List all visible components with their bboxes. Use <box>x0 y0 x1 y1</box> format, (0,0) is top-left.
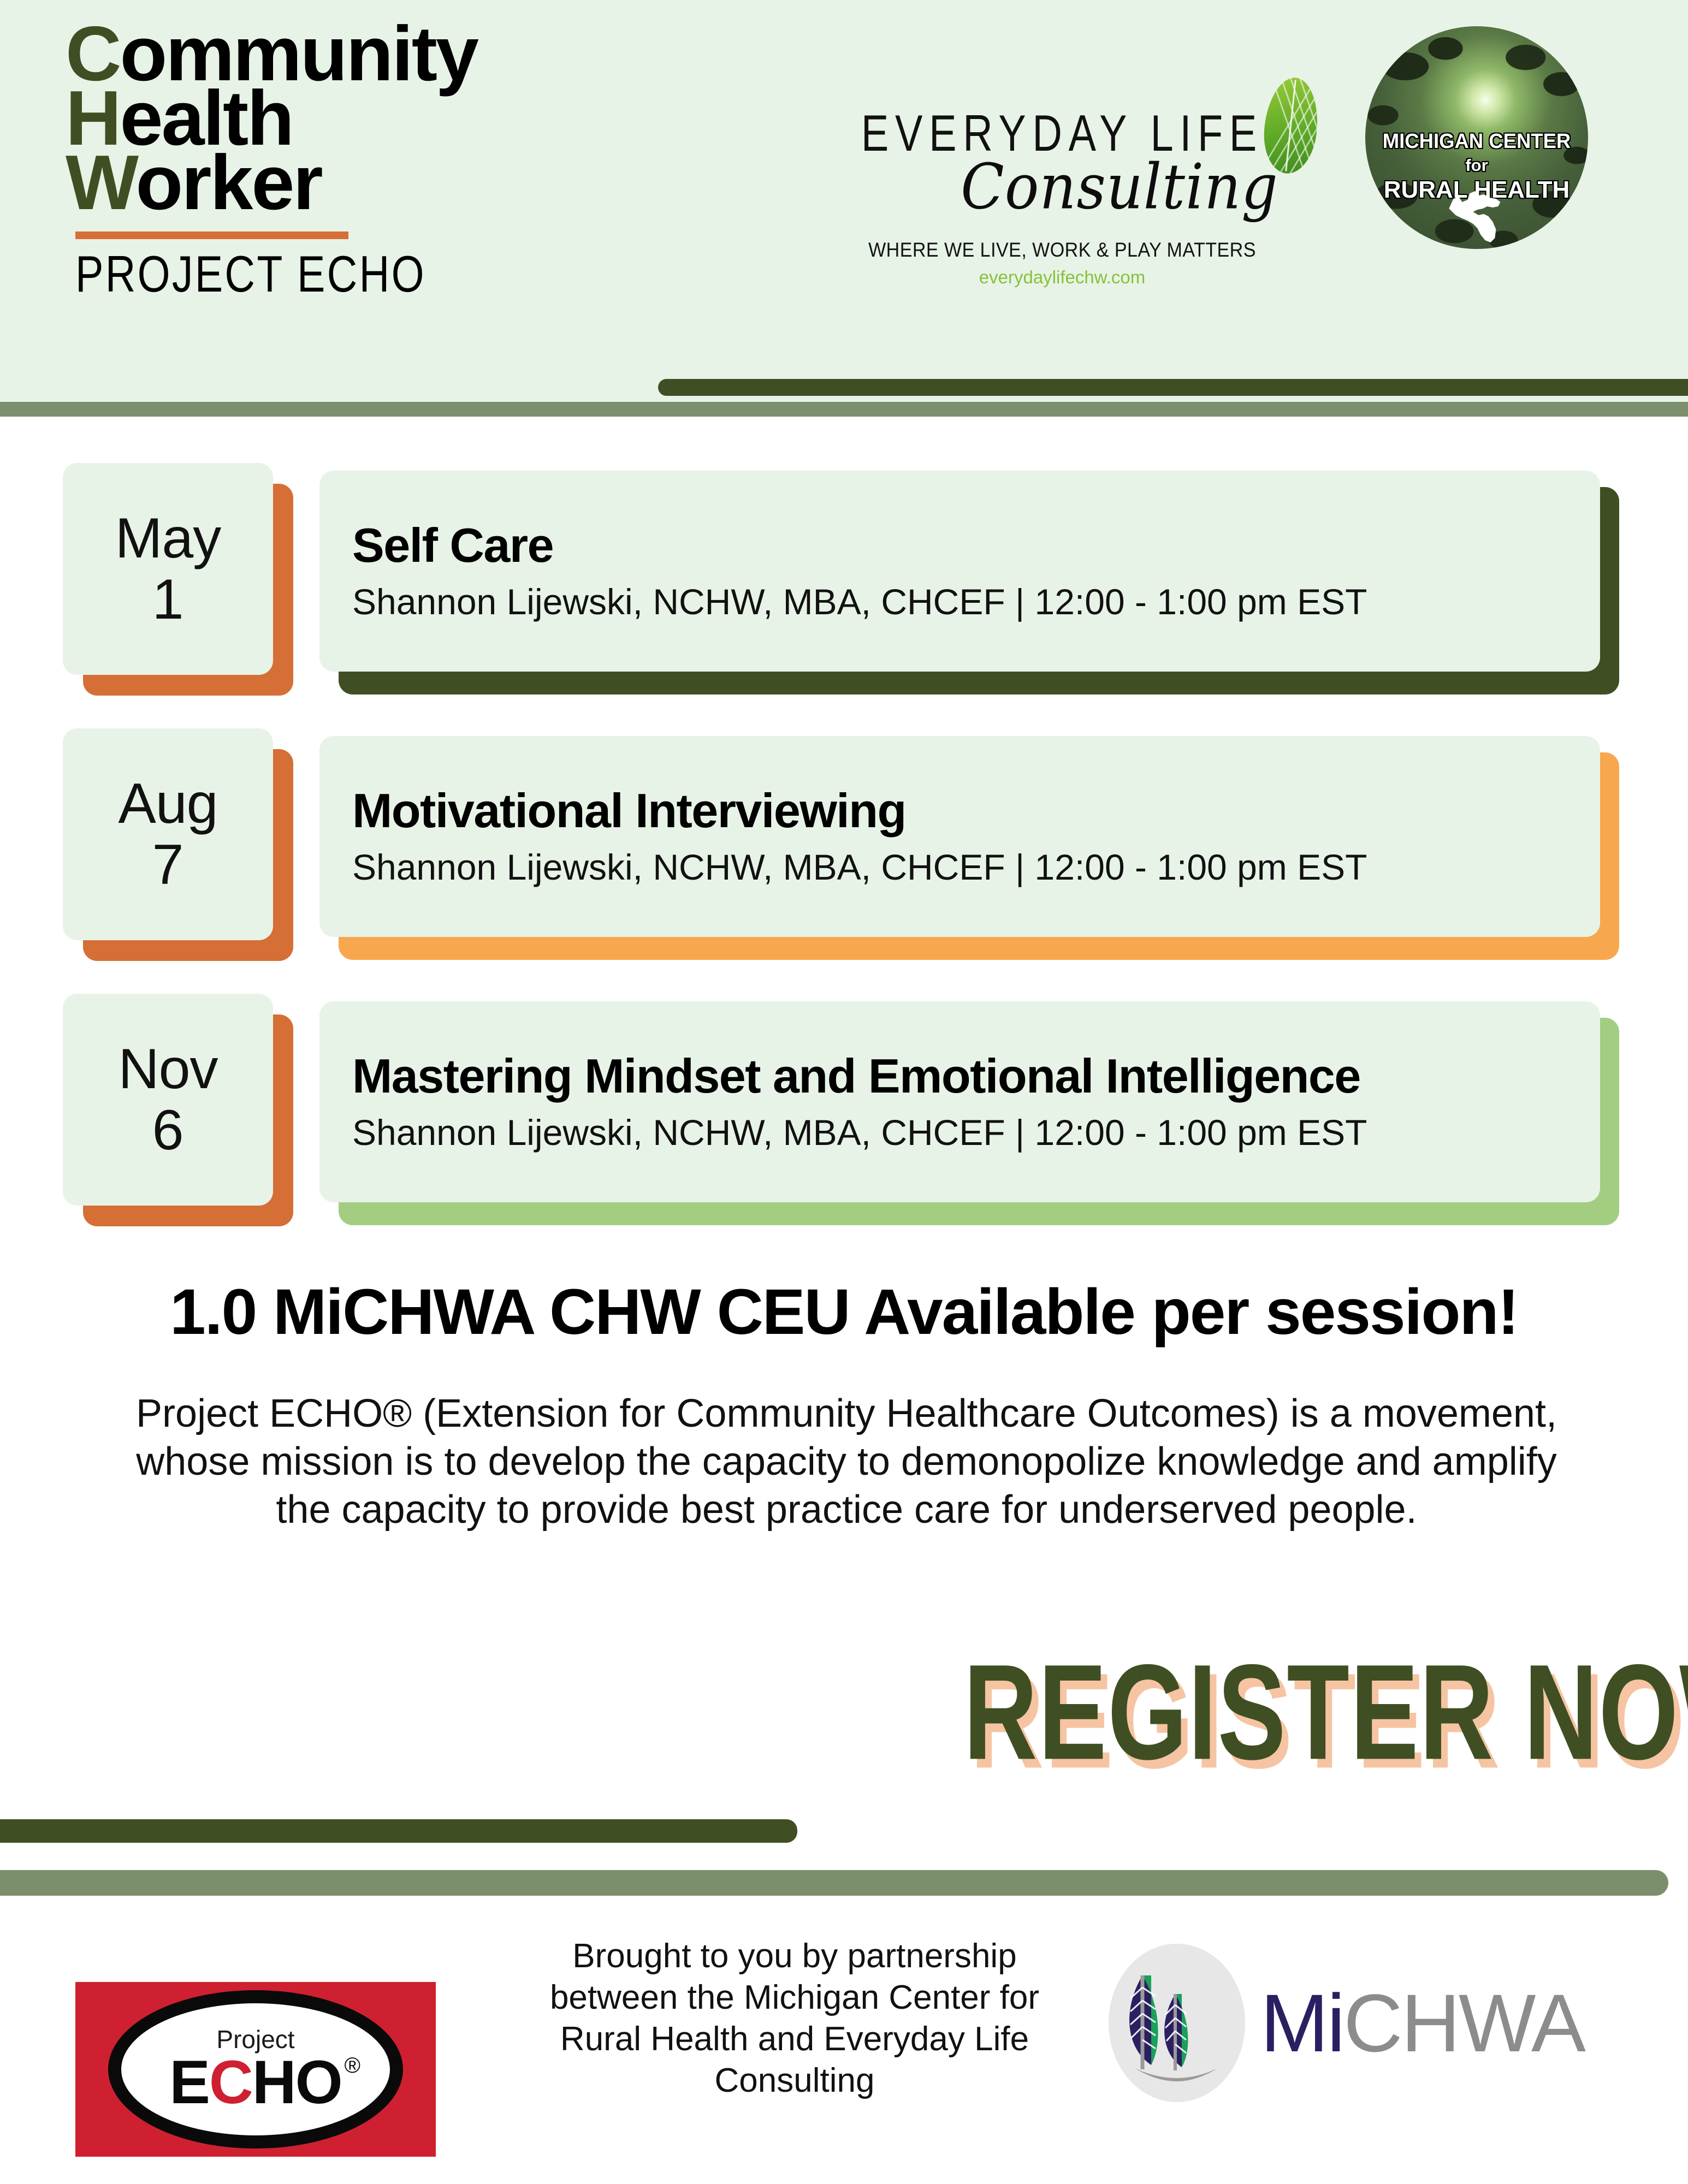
elc-tagline: WHERE WE LIVE, WORK & PLAY MATTERS <box>808 239 1316 262</box>
title-subtitle: PROJECT ECHO <box>75 247 560 301</box>
session-meta: Shannon Lijewski, NCHW, MBA, CHCEF | 12:… <box>352 580 1600 623</box>
session-row[interactable]: Aug 7 Motivational Interviewing Shannon … <box>0 728 1688 963</box>
michwa-leaf-mark-icon <box>1109 1944 1245 2102</box>
date-chip: May 1 <box>63 463 273 675</box>
elc-script-word: Consulting <box>901 150 1338 223</box>
partnership-text: Brought to you by partnership between th… <box>513 1936 1076 2102</box>
header-rule-dark <box>658 379 1688 396</box>
everyday-life-consulting-logo: EVERYDAY LIFE Consulting WHERE WE LIVE, … <box>786 104 1338 288</box>
title-underline-rule <box>75 232 348 239</box>
echo-letter-c: C <box>209 2048 252 2116</box>
michwa-wordmark: MiCHWA <box>1260 1982 1584 2064</box>
session-month: May <box>115 508 221 569</box>
michwa-leaves-icon <box>1109 1944 1245 2102</box>
michwa-chwa: CHWA <box>1343 1977 1584 2069</box>
michwa-mi: Mi <box>1260 1977 1343 2069</box>
echo-oval: Project ECHO ® <box>108 1990 403 2149</box>
date-chip: Nov 6 <box>63 994 273 1206</box>
session-meta: Shannon Lijewski, NCHW, MBA, CHCEF | 12:… <box>352 846 1600 888</box>
register-now-cta[interactable]: REGISTER NOW <box>963 1635 1649 1791</box>
session-row[interactable]: Nov 6 Mastering Mindset and Emotional In… <box>0 994 1688 1228</box>
session-title: Mastering Mindset and Emotional Intellig… <box>352 1050 1600 1102</box>
project-echo-logo: Project ECHO ® <box>75 1982 436 2157</box>
session-month: Aug <box>118 773 217 834</box>
michigan-center-rural-health-logo: MICHIGAN CENTER for RURAL HEALTH <box>1365 26 1588 249</box>
echo-wordmark: ECHO <box>169 2053 342 2112</box>
topic-card[interactable]: Motivational Interviewing Shannon Lijews… <box>319 736 1600 937</box>
page-title: Community Health Worker PROJECT ECHO <box>66 22 666 301</box>
title-rest-3: orker <box>135 139 321 226</box>
echo-letters-ho: HO <box>252 2048 342 2116</box>
mcrh-line-1: MICHIGAN CENTER <box>1370 130 1584 153</box>
topic-card[interactable]: Self Care Shannon Lijewski, NCHW, MBA, C… <box>319 471 1600 672</box>
header-rule-sage <box>0 402 1688 417</box>
session-meta: Shannon Lijewski, NCHW, MBA, CHCEF | 12:… <box>352 1111 1600 1154</box>
registered-trademark-icon: ® <box>345 2054 360 2078</box>
footer-rule-dark <box>0 1819 797 1843</box>
mcrh-line-2: for <box>1365 156 1588 175</box>
title-accent-w: W <box>66 139 135 226</box>
poster-canvas: Community Health Worker PROJECT ECHO EVE… <box>0 0 1688 2184</box>
michwa-logo: MiCHWA <box>1109 1944 1622 2102</box>
elc-url: everydaylifechw.com <box>786 267 1338 288</box>
michigan-state-outline-icon <box>1446 188 1510 245</box>
session-day: 6 <box>152 1100 184 1161</box>
session-month: Nov <box>119 1038 218 1100</box>
session-title: Self Care <box>352 519 1600 572</box>
session-day: 1 <box>152 569 184 630</box>
ceu-headline: 1.0 MiCHWA CHW CEU Available per session… <box>0 1275 1688 1349</box>
session-title: Motivational Interviewing <box>352 785 1600 837</box>
footer-rule-sage <box>0 1870 1668 1896</box>
session-day: 7 <box>152 834 184 895</box>
echo-letter-e: E <box>169 2048 209 2116</box>
topic-card[interactable]: Mastering Mindset and Emotional Intellig… <box>319 1001 1600 1202</box>
date-chip: Aug 7 <box>63 728 273 940</box>
title-line-3: Worker <box>66 151 666 215</box>
session-row[interactable]: May 1 Self Care Shannon Lijewski, NCHW, … <box>0 463 1688 698</box>
elc-wordmark-row: EVERYDAY LIFE <box>786 104 1338 157</box>
program-description: Project ECHO® (Extension for Community H… <box>104 1390 1589 1534</box>
session-list: May 1 Self Care Shannon Lijewski, NCHW, … <box>0 463 1688 1259</box>
